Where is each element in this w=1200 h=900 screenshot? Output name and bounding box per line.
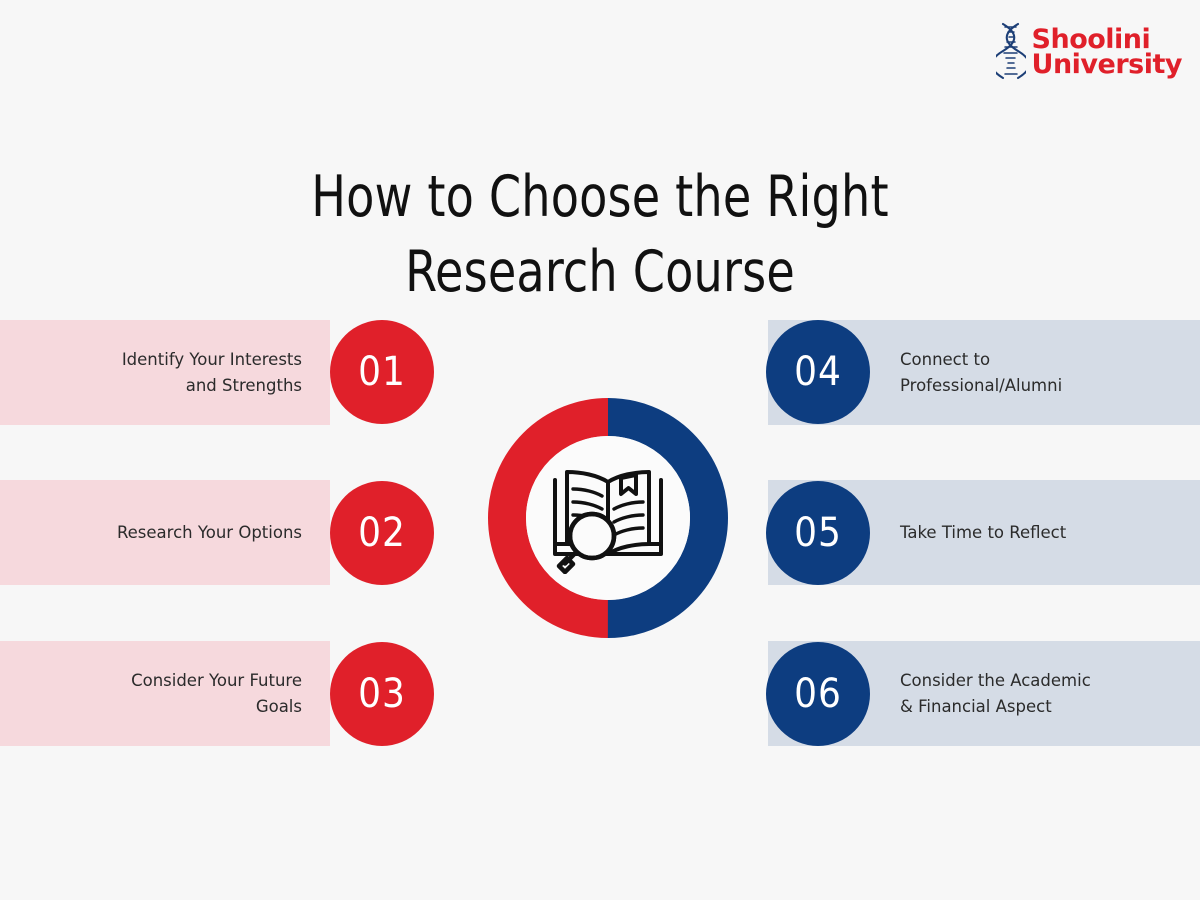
step-label-05: Take Time to Reflect	[900, 519, 1066, 545]
open-book-magnifier-icon	[547, 462, 669, 574]
step-label-06: Consider the Academic & Financial Aspect	[900, 667, 1091, 719]
step-label-01: Identify Your Interests and Strengths	[122, 346, 302, 398]
step-item-02[interactable]: Research Your Options	[0, 480, 330, 585]
step-label-02: Research Your Options	[117, 519, 302, 545]
step-number-06[interactable]: 06	[766, 642, 870, 746]
center-graphic	[488, 398, 728, 638]
step-label-04: Connect to Professional/Alumni	[900, 346, 1062, 398]
step-number-02[interactable]: 02	[330, 481, 434, 585]
step-number-01[interactable]: 01	[330, 320, 434, 424]
step-number-05[interactable]: 05	[766, 481, 870, 585]
step-label-03: Consider Your Future Goals	[131, 667, 302, 719]
step-item-03[interactable]: Consider Your Future Goals	[0, 641, 330, 746]
step-number-04[interactable]: 04	[766, 320, 870, 424]
step-number-03[interactable]: 03	[330, 642, 434, 746]
step-item-01[interactable]: Identify Your Interests and Strengths	[0, 320, 330, 425]
